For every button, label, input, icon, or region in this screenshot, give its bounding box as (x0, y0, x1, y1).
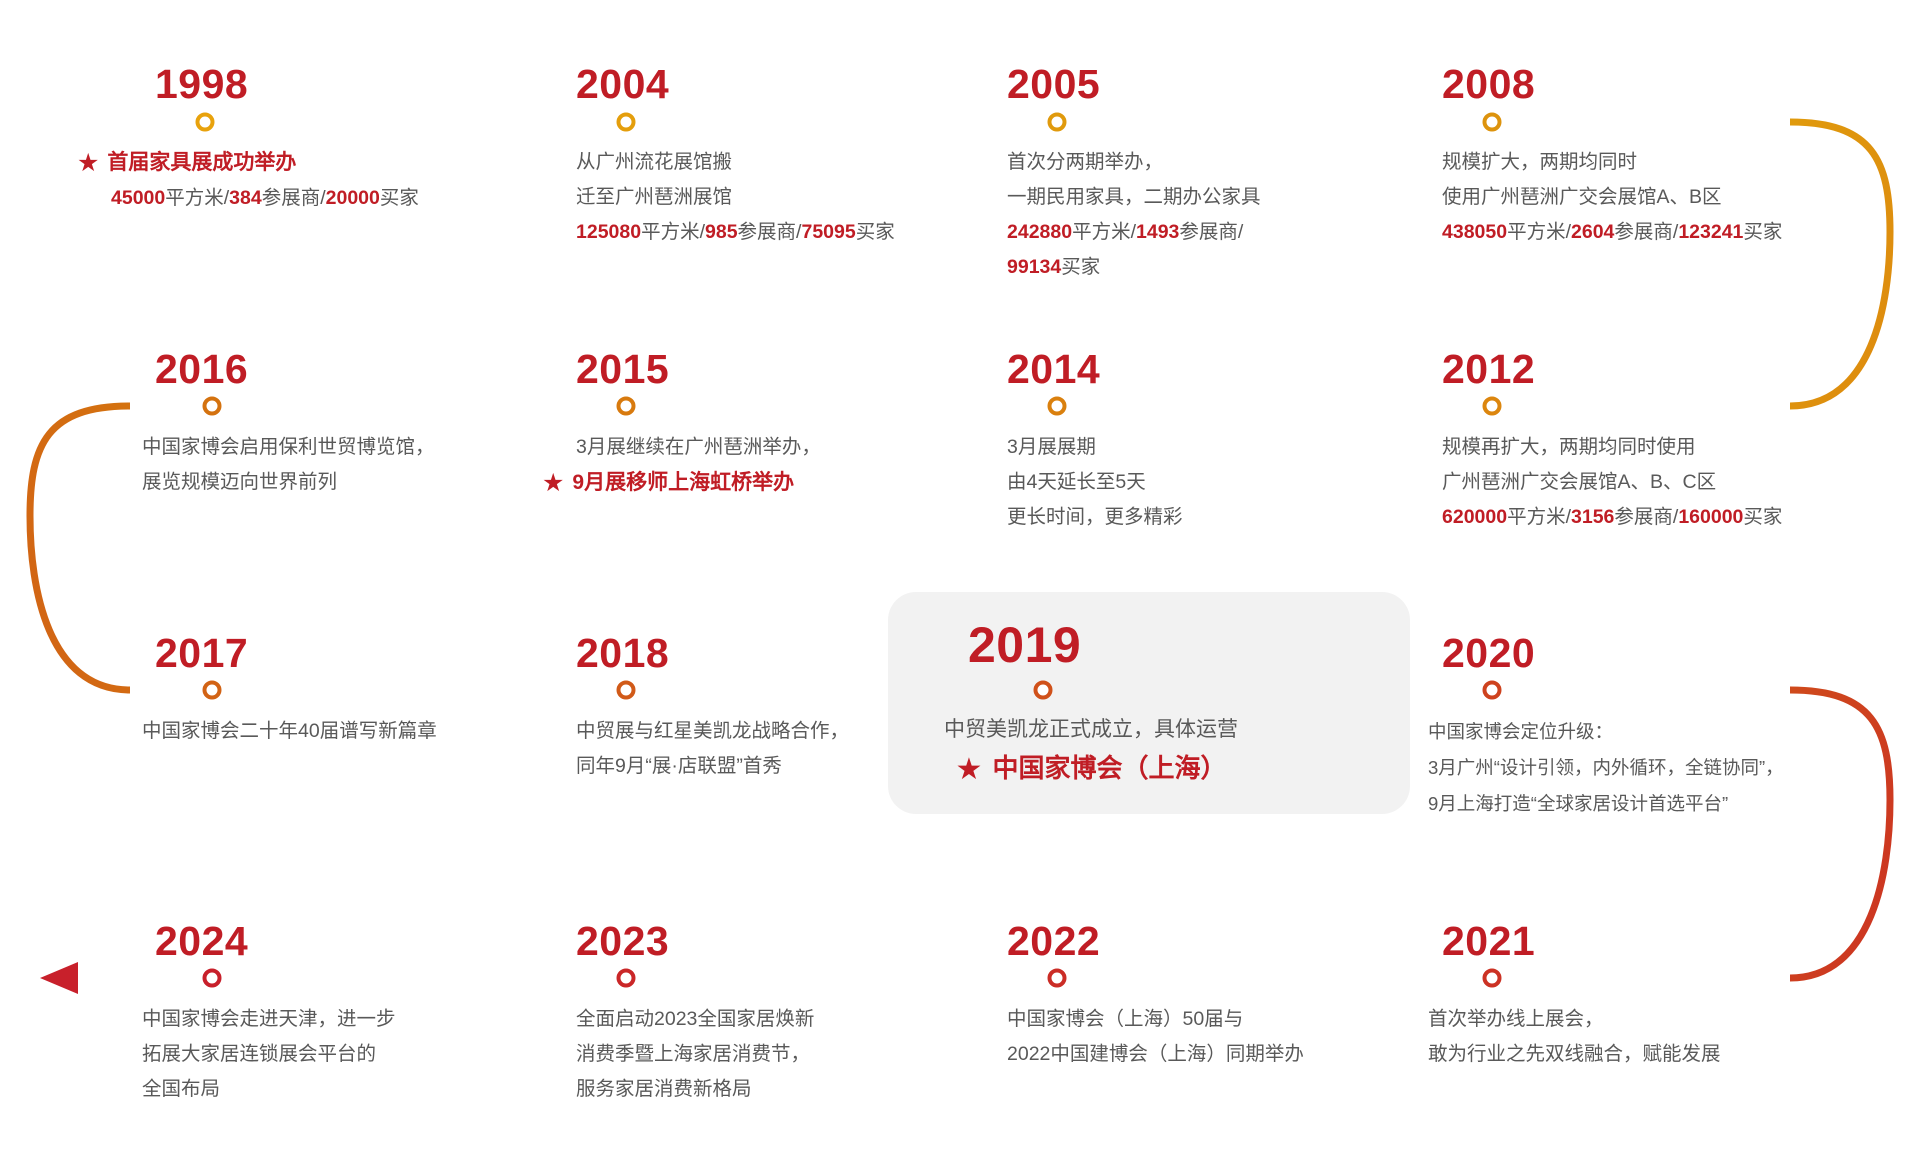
event-desc-2014: 3月展展期 由4天延长至5天 更长时间，更多精彩 (1007, 430, 1183, 535)
year-label-2015: 2015 (576, 349, 669, 390)
event-line: 消费季暨上海家居消费节， (576, 1037, 814, 1072)
event-line: 规模再扩大，两期均同时使用 (1442, 430, 1782, 465)
event-desc-2008: 规模扩大，两期均同时 使用广州琶洲广交会展馆A、B区 438050平方米/260… (1442, 145, 1782, 250)
event-desc-2020: 中国家博会定位升级： 3月广州“设计引领，内外循环，全链协同”， 9月上海打造“… (1428, 714, 1784, 822)
event-desc-2017: 中国家博会二十年40届谱写新篇章 (142, 714, 437, 749)
node-dot-2024 (203, 969, 222, 988)
event-desc-2024: 中国家博会走进天津，进一步 拓展大家居连锁展会平台的 全国布局 (142, 1002, 396, 1107)
event-line: 中国家博会（上海）50届与 (1007, 1002, 1304, 1037)
event-line: 3月广州“设计引领，内外循环，全链协同”， (1428, 750, 1784, 786)
event-line: 同年9月“展·店联盟”首秀 (576, 749, 849, 784)
event-stats-2008: 438050平方米/2604参展商/123241买家 (1442, 215, 1782, 250)
event-desc-2021: 首次举办线上展会， 敢为行业之先双线融合，赋能发展 (1428, 1002, 1721, 1072)
event-stats-2005a: 242880平方米/1493参展商/ (1007, 215, 1261, 250)
event-line: 敢为行业之先双线融合，赋能发展 (1428, 1037, 1721, 1072)
event-line: 中贸展与红星美凯龙战略合作， (576, 714, 849, 749)
event-stats-2004: 125080平方米/985参展商/75095买家 (576, 215, 895, 250)
star-icon: ★ (956, 755, 983, 785)
year-label-2021: 2021 (1442, 921, 1535, 962)
event-line: 规模扩大，两期均同时 (1442, 145, 1782, 180)
year-label-2022: 2022 (1007, 921, 1100, 962)
node-dot-2017 (203, 681, 222, 700)
event-desc-2015: 3月展继续在广州琶洲举办， ★9月展移师上海虹桥举办 (576, 430, 821, 501)
year-label-2004: 2004 (576, 64, 669, 105)
year-label-2020: 2020 (1442, 633, 1535, 674)
event-desc-2016: 中国家博会启用保利世贸博览馆， 展览规模迈向世界前列 (142, 430, 435, 500)
star-icon: ★ (77, 151, 99, 176)
node-dot-1998 (196, 113, 215, 132)
node-dot-2008 (1483, 113, 1502, 132)
node-dot-2022 (1048, 969, 1067, 988)
event-line: 从广州流花展馆搬 (576, 145, 895, 180)
year-label-1998: 1998 (155, 64, 248, 105)
event-headline-2015: ★9月展移师上海虹桥举办 (576, 465, 821, 501)
node-dot-2014 (1048, 397, 1067, 416)
star-icon: ★ (542, 471, 564, 496)
node-dot-2005 (1048, 113, 1067, 132)
event-line: 全面启动2023全国家居焕新 (576, 1002, 814, 1037)
event-desc-1998: ★首届家具展成功举办 45000平方米/384参展商/20000买家 (111, 145, 419, 216)
event-line: 2022中国建博会（上海）同期举办 (1007, 1037, 1304, 1072)
node-dot-2018 (617, 681, 636, 700)
year-label-2016: 2016 (155, 349, 248, 390)
event-desc-2004: 从广州流花展馆搬 迁至广州琶洲展馆 125080平方米/985参展商/75095… (576, 145, 895, 250)
event-line: 更长时间，更多精彩 (1007, 500, 1183, 535)
event-line: 广州琶洲广交会展馆A、B、C区 (1442, 465, 1782, 500)
event-line: 中贸美凯龙正式成立，具体运营 (944, 712, 1238, 747)
year-label-2018: 2018 (576, 633, 669, 674)
event-desc-2012: 规模再扩大，两期均同时使用 广州琶洲广交会展馆A、B、C区 620000平方米/… (1442, 430, 1782, 535)
node-dot-2016 (203, 397, 222, 416)
event-line: 中国家博会启用保利世贸博览馆， (142, 430, 435, 465)
year-label-2005: 2005 (1007, 64, 1100, 105)
event-line: 中国家博会二十年40届谱写新篇章 (142, 714, 437, 749)
node-dot-2019 (1034, 681, 1053, 700)
event-headline-1998: ★首届家具展成功举办 (111, 145, 419, 181)
event-line: 全国布局 (142, 1072, 396, 1107)
event-line: 由4天延长至5天 (1007, 465, 1183, 500)
event-desc-2022: 中国家博会（上海）50届与 2022中国建博会（上海）同期举办 (1007, 1002, 1304, 1072)
node-dot-2015 (617, 397, 636, 416)
node-dot-2004 (617, 113, 636, 132)
event-line: 迁至广州琶洲展馆 (576, 180, 895, 215)
event-headline-2019: ★中国家博会（上海） (944, 751, 1238, 789)
year-label-2024: 2024 (155, 921, 248, 962)
node-dot-2020 (1483, 681, 1502, 700)
event-line: 3月展继续在广州琶洲举办， (576, 430, 821, 465)
event-desc-2023: 全面启动2023全国家居焕新 消费季暨上海家居消费节， 服务家居消费新格局 (576, 1002, 814, 1107)
event-line: 9月上海打造“全球家居设计首选平台” (1428, 786, 1784, 822)
event-line: 首次分两期举办， (1007, 145, 1261, 180)
node-dot-2012 (1483, 397, 1502, 416)
event-line: 3月展展期 (1007, 430, 1183, 465)
year-label-2008: 2008 (1442, 64, 1535, 105)
event-line: 服务家居消费新格局 (576, 1072, 814, 1107)
node-dot-2021 (1483, 969, 1502, 988)
event-desc-2019: 中贸美凯龙正式成立，具体运营 ★中国家博会（上海） (944, 712, 1238, 789)
event-desc-2005: 首次分两期举办， 一期民用家具，二期办公家具 242880平方米/1493参展商… (1007, 145, 1261, 285)
event-line: 一期民用家具，二期办公家具 (1007, 180, 1261, 215)
event-line: 展览规模迈向世界前列 (142, 465, 435, 500)
year-label-2023: 2023 (576, 921, 669, 962)
year-label-2017: 2017 (155, 633, 248, 674)
year-label-2019: 2019 (968, 620, 1081, 670)
year-label-2012: 2012 (1442, 349, 1535, 390)
event-stats-2012: 620000平方米/3156参展商/160000买家 (1442, 500, 1782, 535)
event-desc-2018: 中贸展与红星美凯龙战略合作， 同年9月“展·店联盟”首秀 (576, 714, 849, 784)
event-stats-1998: 45000平方米/384参展商/20000买家 (111, 181, 419, 216)
year-label-2014: 2014 (1007, 349, 1100, 390)
event-line: 首次举办线上展会， (1428, 1002, 1721, 1037)
event-line: 中国家博会定位升级： (1428, 714, 1784, 750)
event-line: 拓展大家居连锁展会平台的 (142, 1037, 396, 1072)
event-stats-2005b: 99134买家 (1007, 250, 1261, 285)
timeline-infographic: 1998 ★首届家具展成功举办 45000平方米/384参展商/20000买家 … (0, 0, 1920, 1158)
node-dot-2023 (617, 969, 636, 988)
event-line: 中国家博会走进天津，进一步 (142, 1002, 396, 1037)
event-line: 使用广州琶洲广交会展馆A、B区 (1442, 180, 1782, 215)
arrow-left-icon (40, 962, 78, 994)
